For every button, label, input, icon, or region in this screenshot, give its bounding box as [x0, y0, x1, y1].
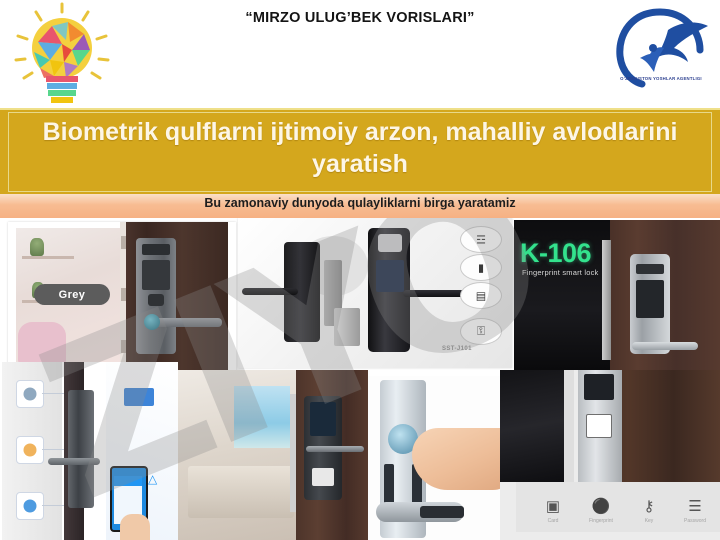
- fingerprint-icon: [24, 388, 37, 401]
- fingerprint-icon: ☲: [460, 226, 502, 253]
- icon-label: Password: [674, 518, 716, 524]
- fingerprint-sensor: [148, 294, 164, 306]
- collage-image-grey-lock: Grey: [8, 222, 236, 372]
- app-header-bar: [114, 476, 142, 486]
- icon-label: Card: [532, 518, 574, 524]
- icon-label: Key: [628, 518, 670, 524]
- card-icon: ▮: [460, 254, 502, 281]
- password-icon: ☰: [678, 494, 712, 518]
- lock-display: [142, 244, 170, 255]
- feature-callout-box: [16, 380, 44, 408]
- knob-accent: [144, 314, 160, 330]
- collage-image-finger-on-sensor: [368, 376, 520, 540]
- door-handle: [48, 458, 100, 465]
- hand: [120, 514, 150, 540]
- lock-keypad: [636, 280, 664, 318]
- dark-background: [500, 370, 564, 482]
- collage-image-k106: K-106 Fingerprint smart lock: [514, 220, 720, 370]
- presentation-slide: “MIRZO ULUG’BEK VORISLARI” O‘ZBEKISTON Y…: [0, 0, 720, 540]
- lock-keypad: [584, 374, 614, 400]
- lock-keypad: [142, 260, 170, 290]
- plant-decor: [30, 238, 44, 256]
- key-icon: ⚿: [460, 318, 502, 345]
- collage-image-app-features: △: [2, 362, 178, 540]
- collage-image-icon-strip: ▣ ⚫ ⚷ ☰ Card Fingerprint Key Password: [500, 370, 720, 540]
- fingerprint-icon: ⚫: [584, 494, 618, 518]
- chair: [18, 322, 66, 364]
- slide-header: “MIRZO ULUG’BEK VORISLARI” O‘ZBEKISTON Y…: [0, 0, 720, 108]
- collage-image-bedroom-door: [178, 370, 368, 540]
- feature-callout-box: [16, 436, 44, 464]
- callout-line: [42, 449, 64, 450]
- image-collage: Grey SST-J101 ☲ ▮ ▤ ⚿ K-106 Fingerprint …: [0, 212, 720, 540]
- shelf: [22, 256, 74, 259]
- fingerprint-sensor: [312, 468, 334, 486]
- callout-line: [42, 393, 64, 394]
- logo-caption: O‘ZBEKISTON YOSHLAR AGENTLIGI: [608, 76, 714, 82]
- collage-image-black-lock-set: SST-J101 ☲ ▮ ▤ ⚿: [238, 218, 512, 368]
- lock-keypad: [310, 402, 336, 436]
- door-handle: [632, 342, 698, 350]
- icon-label: Fingerprint: [580, 518, 622, 524]
- window: [234, 386, 290, 448]
- model-label: K-106: [520, 238, 591, 269]
- lock-display: [636, 264, 664, 274]
- callout-line: [42, 505, 64, 506]
- door-handle: [403, 290, 465, 297]
- door-handle: [306, 446, 364, 452]
- keypad-icon: ▤: [460, 282, 502, 309]
- lock-keypad: [384, 464, 394, 504]
- door-handle: [242, 288, 298, 295]
- card-icon: ▣: [536, 494, 570, 518]
- fingerprint-sensor: [378, 234, 402, 252]
- slide-subtitle: Bu zamonaviy dunyoda qulayliklarni birga…: [0, 196, 720, 210]
- feature-icon-strip: ▣ ⚫ ⚷ ☰ Card Fingerprint Key Password: [516, 482, 720, 532]
- lock-body: [68, 390, 94, 508]
- feature-callout-box: [16, 492, 44, 520]
- color-badge: Grey: [34, 284, 110, 305]
- slide-title: Biometrik qulflarni ijtimoiy arzon, maha…: [30, 116, 690, 180]
- title-banner: Biometrik qulflarni ijtimoiy arzon, maha…: [0, 108, 720, 196]
- model-label: SST-J101: [442, 346, 472, 352]
- key-icon: ⚷: [632, 494, 666, 518]
- card-icon: [24, 444, 37, 457]
- bluetooth-icon: [24, 500, 37, 513]
- door-jamb: [564, 370, 574, 482]
- access-card: [124, 388, 154, 406]
- bed: [188, 466, 294, 518]
- card-reader-icon: [586, 414, 612, 438]
- uzbekistan-youth-agency-logo: [608, 4, 714, 106]
- handle-grip: [420, 506, 464, 518]
- model-caption: Fingerprint smart lock: [522, 268, 599, 277]
- door-edge: [602, 240, 611, 360]
- lock-keypad: [376, 260, 404, 292]
- wifi-icon: △: [148, 472, 170, 498]
- mortise-body: [334, 308, 360, 346]
